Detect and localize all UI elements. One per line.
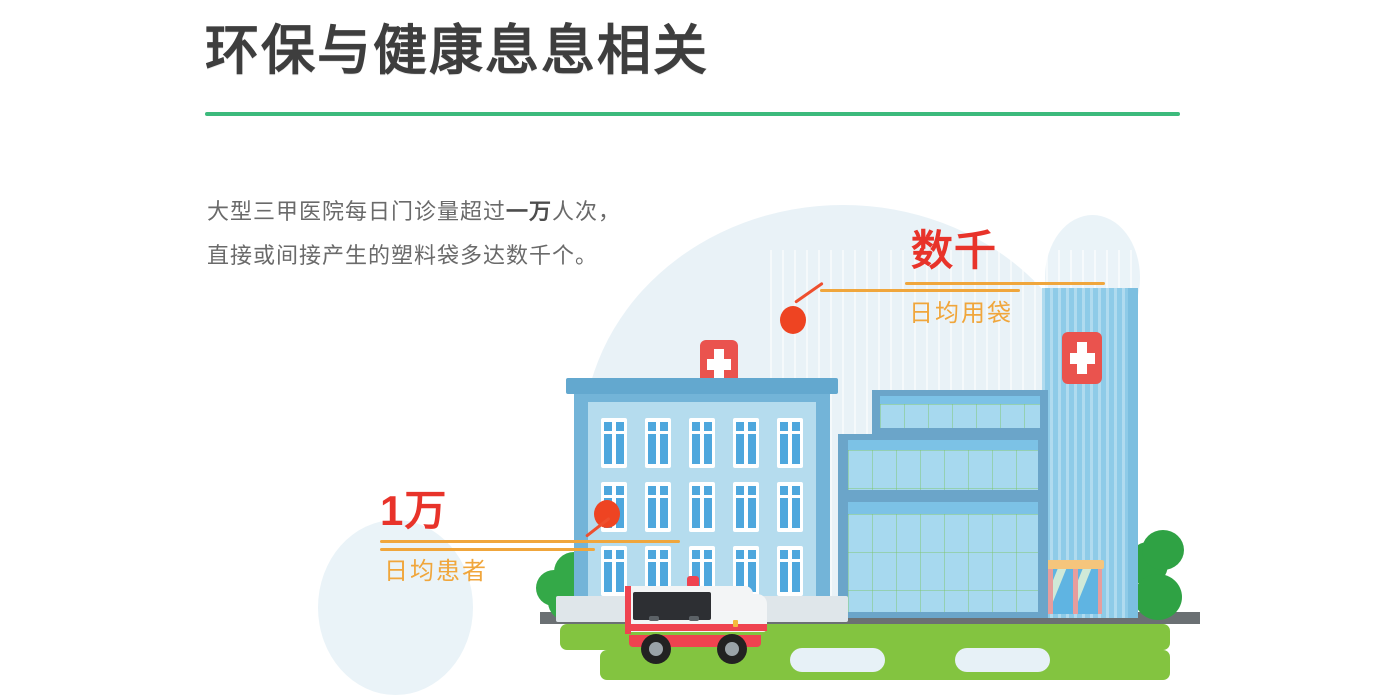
- building-window: [601, 418, 627, 468]
- building-cornice: [566, 378, 838, 394]
- building-window: [733, 482, 759, 532]
- hospital-tower-edge: [1128, 288, 1138, 618]
- path-marking-2: [955, 648, 1050, 672]
- entrance-canopy: [1046, 560, 1104, 569]
- intro-paragraph: 大型三甲医院每日门诊量超过一万人次，直接或间接产生的塑料袋多达数千个。: [207, 190, 637, 278]
- glass-tier-middle: [838, 434, 1048, 496]
- callout-label-bags: 日均用袋: [909, 293, 1105, 328]
- intro-emphasis: 一万: [506, 199, 552, 224]
- building-window: [777, 418, 803, 468]
- ambulance-stripe: [625, 624, 767, 631]
- slide-canvas: 环保与健康息息相关 大型三甲医院每日门诊量超过一万人次，直接或间接产生的塑料袋多…: [0, 0, 1400, 700]
- red-cross-icon-tower: [1062, 332, 1102, 384]
- entrance-glass-right: [1078, 569, 1098, 614]
- callout-rule-bags: [905, 282, 1105, 285]
- page-title: 环保与健康息息相关: [205, 22, 709, 81]
- callout-marker-bags: [780, 306, 806, 334]
- ambulance-window: [633, 592, 711, 620]
- building-window: [777, 482, 803, 532]
- ambulance-icon: [625, 572, 770, 662]
- ambulance-wheel-rear: [641, 634, 671, 664]
- callout-daily-bags: 数千 日均用袋: [905, 230, 1105, 328]
- building-window: [777, 546, 803, 596]
- tower-entrance: [1046, 560, 1104, 614]
- callout-value-bags: 数千: [911, 230, 1105, 272]
- entrance-glass-left: [1053, 569, 1073, 614]
- callout-rule-patients: [380, 540, 680, 543]
- ambulance-wheel-front: [717, 634, 747, 664]
- intro-line-1a: 大型三甲医院每日门诊量超过: [207, 199, 506, 224]
- building-window: [645, 418, 671, 468]
- path-marking-1: [790, 648, 885, 672]
- mid-glass-building: [838, 390, 1048, 618]
- glass-tier-bottom: [838, 496, 1048, 618]
- building-window: [689, 418, 715, 468]
- building-window: [689, 482, 715, 532]
- glass-tier-top: [872, 390, 1048, 434]
- building-window: [733, 418, 759, 468]
- title-divider: [205, 112, 1180, 116]
- intro-line-3: 达数千个。: [483, 243, 598, 268]
- callout-value-patients: 1万: [380, 490, 680, 532]
